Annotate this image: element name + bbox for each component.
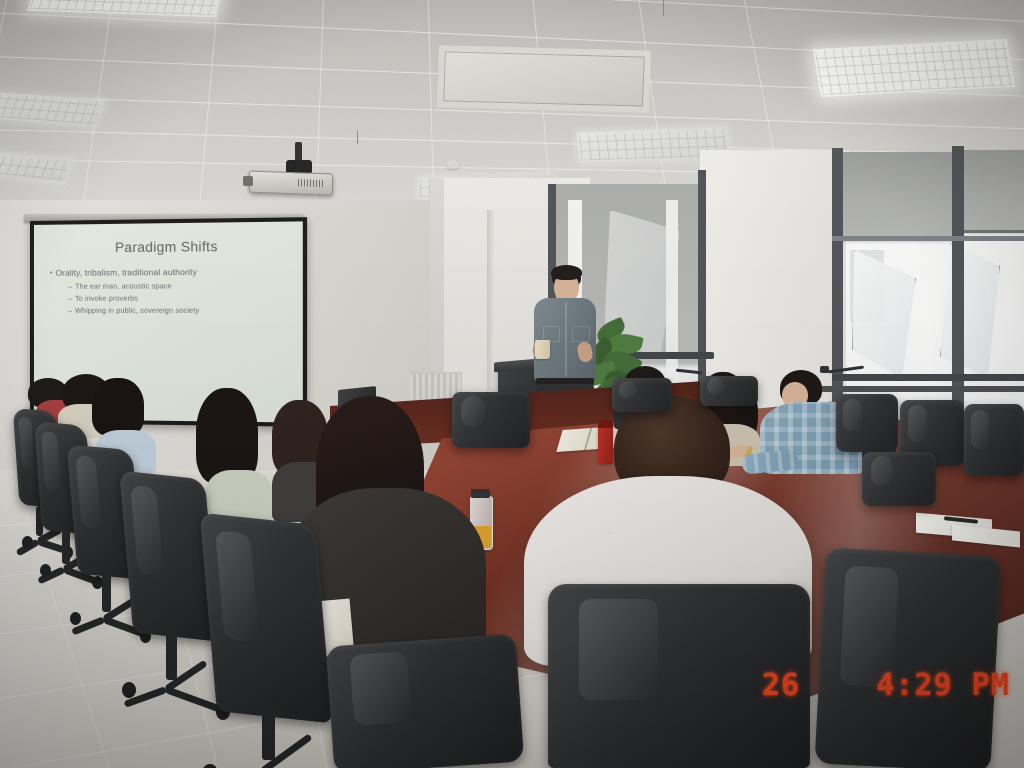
ceiling-hanger-wire — [663, 0, 664, 16]
thermos-cap — [598, 420, 613, 428]
conference-room-photo: Paradigm Shifts •Orality, tribalism, tra… — [0, 0, 1024, 768]
sub-bullet-marker: – — [68, 294, 72, 303]
slide-title: Paradigm Shifts — [44, 238, 292, 256]
attendee-hair — [92, 378, 144, 436]
projector-lens — [243, 176, 253, 186]
slide-sub-bullet: –Whipping in public, sovereign society — [68, 305, 292, 315]
sub-bullet-marker: – — [68, 306, 72, 315]
ceiling-hanger-wire — [357, 130, 358, 144]
window-rail — [788, 386, 1024, 392]
bottle-cap — [471, 489, 490, 498]
slide-sub-bullet: –To invoke proverbs — [68, 293, 292, 303]
camera-timestamp: 26 4:29 PM — [762, 668, 1010, 703]
smoke-detector — [447, 160, 459, 169]
slide-sub-bullet: –The ear man, acoustic space — [68, 281, 292, 291]
sub-bullet-marker: – — [68, 282, 72, 291]
presenter-shirt-placket — [565, 302, 567, 376]
paper-cup — [535, 340, 550, 359]
sub-bullet-text: The ear man, acoustic space — [75, 281, 172, 291]
presenter-shirt-pocket — [572, 326, 590, 342]
window-transom — [832, 236, 1024, 241]
shade-bottom-bar — [964, 230, 1024, 233]
window-shade — [840, 152, 962, 240]
slide-bullet: •Orality, tribalism, traditional authori… — [50, 266, 292, 278]
bullet-text: Orality, tribalism, traditional authorit… — [55, 267, 197, 278]
projector — [249, 171, 333, 196]
sub-bullet-text: Whipping in public, sovereign society — [75, 306, 199, 315]
door-frame — [487, 210, 494, 390]
sub-bullet-text: To invoke proverbs — [75, 294, 138, 303]
hvac-diffuser — [437, 45, 651, 113]
presenter-hair — [551, 265, 582, 280]
window-rail — [832, 374, 1024, 381]
bullet-marker: • — [50, 270, 53, 277]
ceiling-light-panel — [813, 39, 1016, 97]
table-microphone — [820, 366, 829, 373]
window-shade — [964, 150, 1024, 232]
red-thermos — [598, 424, 613, 464]
